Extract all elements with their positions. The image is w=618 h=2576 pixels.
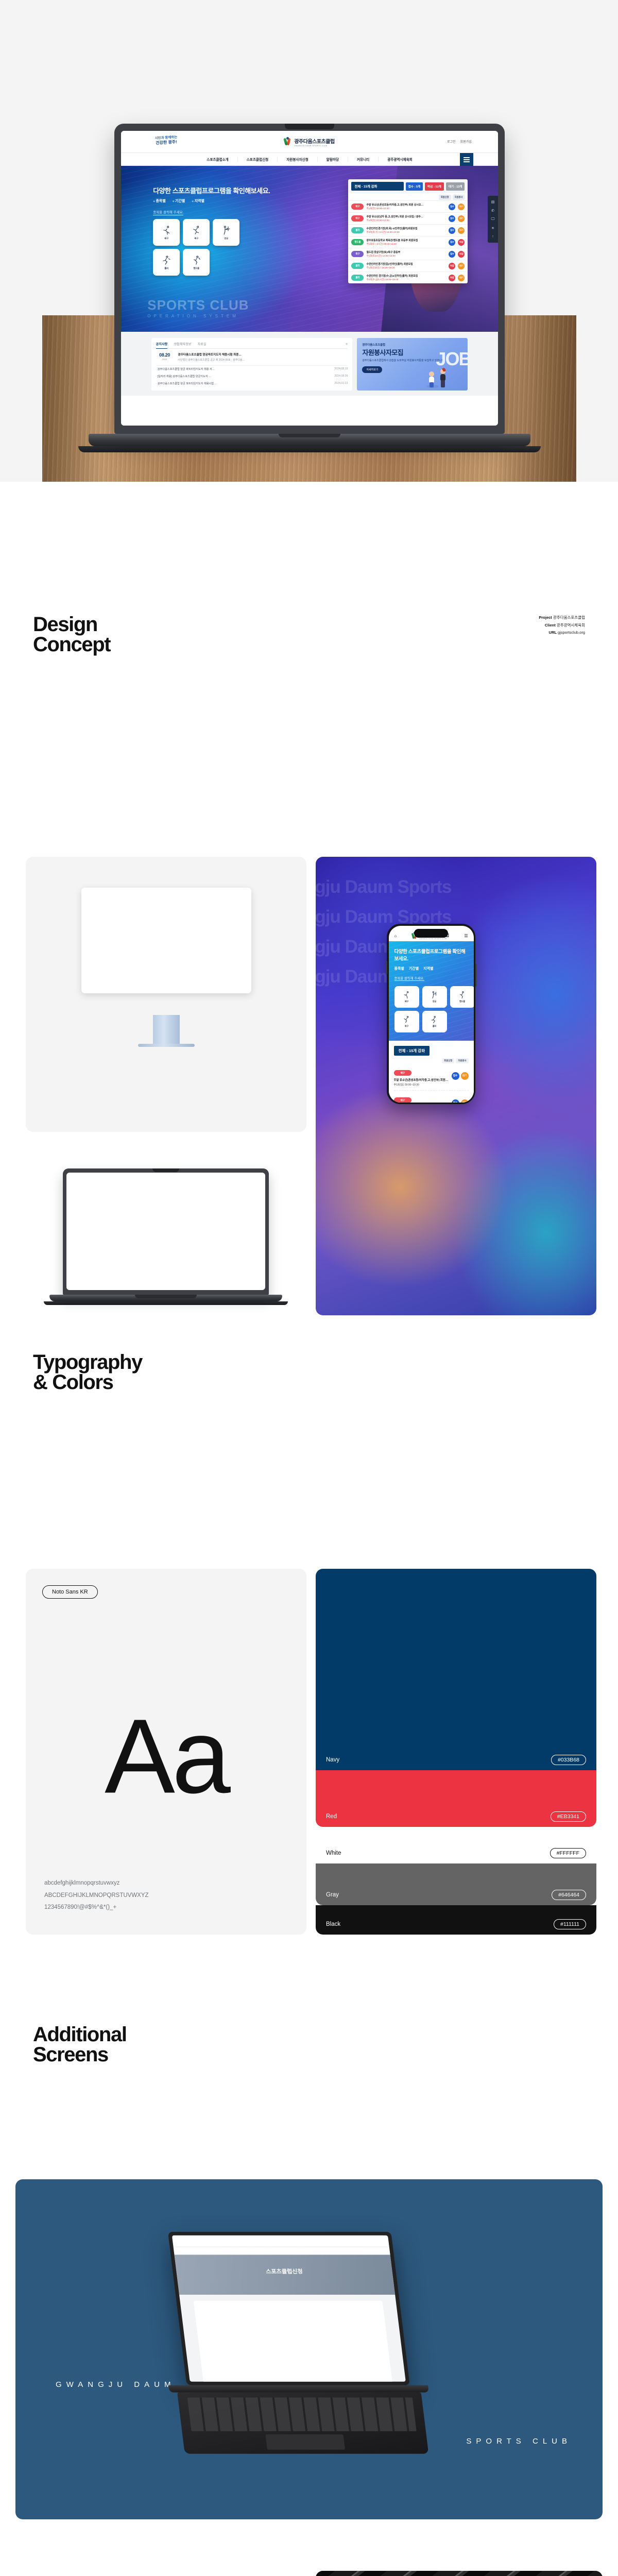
nav-item-volunteer[interactable]: 자원봉사자신청 — [278, 157, 317, 162]
course-status-2[interactable]: 대기 — [461, 1072, 469, 1080]
course-row[interactable]: 핸드볼 광주효동초등학교 체육관/핸드볼 초등부 회원모집주1회(토 / 2시간… — [348, 236, 468, 248]
tab-sports-info[interactable]: 생활체육정보 — [174, 342, 191, 346]
mobile-filter-period[interactable]: 기간별 — [409, 966, 419, 971]
course-time: 주1회(일) 09:00~10:30 — [366, 207, 446, 210]
course-title: 광주효동초등학교 체육관/핸드볼 초등부 회원모집 — [366, 239, 446, 242]
course-status-2[interactable]: 마감 — [458, 251, 465, 258]
course-tag: 배구 — [394, 1070, 411, 1076]
additional-screens-title: Additional Screens — [33, 2025, 127, 2065]
color-hex: #EB3341 — [551, 1811, 586, 1822]
course-status-2[interactable]: 대기 — [458, 275, 465, 281]
color-hex: #646464 — [552, 1890, 586, 1900]
promo-detail-button[interactable]: 자세히보기 — [362, 366, 382, 373]
course-tag: 롤러 — [351, 275, 364, 281]
filter-tab-region[interactable]: 지역별 — [192, 198, 204, 204]
mobile-course-list: 전체 - 15개 강좌 회원신청 자원봉사 배구 주말 유소년(혼성초등/여자중… — [389, 1041, 474, 1103]
mobile-course-row[interactable]: 배구 주말 유소년(혼성초등/여자중,고,성인부) 회원 상시모…주1회(일) … — [394, 1063, 469, 1091]
auth-links: 로그인 회원가입 — [447, 139, 472, 144]
course-time: 주1회(일) 09:00~10:30 — [394, 1083, 449, 1087]
people-illustration-icon — [419, 365, 453, 388]
site-logo[interactable]: 광주다움스포츠클럽GWANGJU DAUM SPORTS CLUB — [284, 137, 334, 147]
power-button[interactable] — [475, 964, 476, 987]
mobile-course-row[interactable]: 배구 주말 유소년(남자 중,고,성인부) 회원 상시모집 / 광주…주1회(일… — [394, 1091, 469, 1103]
course-panel-header: 전체 - 15개 강좌 접수 : 5개 마감 : 12개 대기 : 13개 — [348, 179, 468, 193]
course-tag: 배구 — [351, 204, 364, 210]
sport-card-archery[interactable]: 양궁 — [213, 219, 239, 246]
nav-item-community[interactable]: 커뮤니티 — [348, 157, 379, 162]
color-hex: #111111 — [554, 1919, 586, 1929]
notice-item-list: 광주다움스포츠클럽 양궁 파트타임지도자 채용 서…2024.08.19[일자리… — [156, 366, 348, 387]
course-title: 수완인라인 경기장(수,금)&인라인(롤러) 회원모집 — [366, 274, 446, 278]
handball-icon — [458, 991, 467, 999]
color-swatch-black: Black #111111 — [316, 1905, 596, 1935]
notice-featured-title: 광주다움스포츠클럽 양궁파트지도자 채용시험 최종… — [178, 352, 245, 357]
course-status-2[interactable]: 대기 — [458, 263, 465, 269]
site-lower-area: 공지사항 생활체육정보 자료실 + 08.20 2024 — [121, 332, 498, 396]
hero-filter-tabs: 종목별 기간별 지역별 — [153, 198, 204, 204]
course-time: 주1회(토 / 2시간) 09:30~11:30 — [366, 243, 446, 246]
word-gwangju-daum: GWANGJU DAUM — [56, 2380, 175, 2389]
meta-value-url[interactable]: gjsportsclub.org — [558, 630, 585, 635]
nav-item-council[interactable]: 광주광역시체육회 — [379, 157, 421, 162]
color-name: White — [326, 1850, 341, 1856]
notice-item[interactable]: 광주다움스포츠클럽 양궁 파트타임지도자 채용시험…2024.02.23 — [156, 380, 348, 387]
imac-mockup — [81, 888, 251, 993]
mobile-filter-sport[interactable]: 종목별 — [394, 966, 404, 971]
font-sample-glyph: Aa — [105, 1696, 228, 1817]
color-swatch-red: Red #EB3341 — [316, 1770, 596, 1827]
course-status-2[interactable]: 마감 — [458, 239, 465, 246]
mobile-sport-grid: 배구 양궁 핸드볼 축구 롤러 — [394, 986, 468, 1032]
course-row[interactable]: 롤러 수완인라인경기장(일)/인라인(롤러) 회원모집주1회(일요일) / 16… — [348, 260, 468, 272]
roller-icon — [430, 1015, 439, 1024]
notice-item[interactable]: 광주다움스포츠클럽 양궁 파트타임지도자 채용 서…2024.08.19 — [156, 366, 348, 373]
soccer-icon — [191, 225, 202, 236]
nav-item-apply[interactable]: 스포츠클럽신청 — [238, 157, 278, 162]
course-status-1[interactable]: 마감 — [449, 275, 455, 281]
imac-screen — [81, 888, 251, 993]
course-status-1[interactable]: 접수 — [452, 1099, 459, 1103]
notice-tabs: 공지사항 생활체육정보 자료실 + — [156, 342, 348, 349]
plus-icon[interactable]: + — [346, 342, 348, 346]
macbook-small-mockup — [63, 1168, 269, 1305]
quick-sidebar: ▤ ✆ 🖵 ☀ ↑ — [488, 196, 498, 243]
archery-icon — [430, 991, 439, 999]
font-name-badge: Noto Sans KR — [42, 1585, 98, 1599]
iphone-notch — [414, 929, 448, 938]
course-time: 주1회(일) 10:30~12:00 — [366, 219, 446, 222]
macbook-small-lid — [63, 1168, 269, 1295]
laptop-screen: 시민과 함께하는 건강한 광주! 광주다움스포츠클럽GWANGJU DAUM S… — [121, 131, 498, 426]
laptop-base — [49, 1295, 282, 1301]
course-rows: 배구 주말 유소년(혼성초등/여자중,고,성인부) 회원 상시모…주1회(일) … — [348, 200, 468, 283]
meta-label-url: URL — [549, 630, 557, 635]
hero-mockup-section: 시민과 함께하는 건강한 광주! 광주다움스포츠클럽GWANGJU DAUM S… — [0, 0, 618, 482]
color-palette: Navy #033B68Red #EB3341White #FFFFFFGray… — [316, 1569, 596, 1935]
sport-label: 축구 — [194, 237, 198, 240]
sport-label: 배구 — [405, 1000, 408, 1003]
mobile-course-info: 배구 주말 유소년(혼성초등/여자중,고,성인부) 회원 상시모…주1회(일) … — [394, 1067, 449, 1087]
sports-club-watermark: SPORTS CLUBOPERATION SYSTEM — [147, 297, 249, 318]
angled-laptop-lid: 스포츠클럽신청 — [168, 2232, 410, 2385]
course-title: 주말 유소년(남자 중,고,성인부) 회원 상시모집 / 광주… — [366, 215, 446, 218]
color-swatch-navy: Navy #033B68 — [316, 1569, 596, 1770]
course-tag: 배구 — [394, 1097, 411, 1103]
mobile-brand-sub: GWANGJU DAUM SPORTS CLUB — [419, 938, 449, 940]
notice-day: 08.20 — [156, 352, 174, 358]
color-name: Red — [326, 1814, 337, 1820]
notice-year: 2024 — [156, 358, 174, 361]
sport-label: 핸드볼 — [459, 1000, 465, 1003]
course-time: 주1회(토/2시간) 12:00~14:00 — [366, 255, 446, 258]
laptop-foot — [78, 446, 541, 452]
course-time: 주2회(화,목 / 2시간) 18:00~20:00 — [366, 231, 446, 234]
project-meta: Project 광주다움스포츠클럽 Client 광주광역시체육회 URL gj… — [539, 614, 585, 637]
mobile-app-icon[interactable]: ▤ — [488, 197, 498, 206]
signup-link[interactable]: 회원가입 — [460, 139, 472, 144]
chip-waiting[interactable]: 대기 : 13개 — [446, 182, 465, 191]
mobile-sport-volleyball[interactable]: 배구 — [394, 986, 419, 1008]
laptop-notch — [285, 124, 334, 129]
course-list-panel: 전체 - 15개 강좌 접수 : 5개 마감 : 12개 대기 : 13개 회원… — [348, 179, 468, 283]
phone-gradient-card: ngju Daum Sports ngju Daum Sports ngju D… — [316, 857, 596, 1315]
notice-featured[interactable]: 08.20 2024 광주다움스포츠클럽 양궁파트지도자 채용시험 최종… 사단… — [156, 349, 348, 366]
course-title: 주말 유소년(혼성초등/여자중,고,성인부) 회원 상시모… — [394, 1078, 449, 1082]
notice-item-title: 광주다움스포츠클럽 양궁 파트타임지도자 채용시험… — [156, 382, 217, 385]
sport-label: 양궁 — [433, 1000, 436, 1003]
site-header: 시민과 함께하는 건강한 광주! 광주다움스포츠클럽GWANGJU DAUM S… — [121, 131, 498, 152]
course-info: 광주효동초등학교 체육관/핸드볼 초등부 회원모집주1회(토 / 2시간) 09… — [366, 239, 446, 246]
angled-laptop-keyboard — [177, 2393, 428, 2454]
nav-item-intro[interactable]: 스포츠클럽소개 — [198, 157, 237, 162]
volunteer-promo-banner[interactable]: JOB 광주다움스포츠클럽 자원봉사자모집 광주다움스포츠클럽에서 강습을 도와… — [357, 338, 468, 391]
laptop-mockup: 시민과 함께하는 건강한 광주! 광주다움스포츠클럽GWANGJU DAUM S… — [114, 124, 505, 452]
roller-icon — [161, 255, 172, 266]
idea-bulb-icon[interactable]: ☀ — [488, 224, 498, 232]
mobile-course-status: 접수 대기 — [452, 1094, 469, 1103]
course-count-label: 전체 - 15개 강좌 — [351, 182, 403, 191]
course-status-2[interactable]: 대기 — [458, 215, 465, 222]
mobile-course-count: 전체 - 15개 강좌 — [394, 1046, 430, 1056]
volunteer-button[interactable]: 자원봉사 — [453, 195, 465, 200]
blue-laptop-card: GWANGJU DAUM SPORTS CLUB 스포츠클럽신청 — [15, 2179, 603, 2519]
color-swatch-gray: Gray #646464 — [316, 1863, 596, 1906]
angled-laptop-screen: 스포츠클럽신청 — [172, 2235, 406, 2382]
course-row[interactable]: 배구 주말 유소년(혼성초등/여자중,고,성인부) 회원 상시모…주1회(일) … — [348, 200, 468, 212]
course-status-2[interactable]: 대기 — [458, 204, 465, 210]
mobile-sport-handball[interactable]: 핸드볼 — [450, 986, 474, 1008]
angled-laptop-mockup: 스포츠클럽신청 — [168, 2232, 522, 2498]
mobile-sport-roller[interactable]: 롤러 — [422, 1011, 447, 1032]
mobile-hero: 다양한 스포츠클럽프로그램을 확인해보세요. 종목별 기간별 지역별 종목을 클… — [389, 941, 474, 1041]
scroll-top-icon[interactable]: ↑ — [488, 232, 498, 241]
angled-laptop-base — [168, 2385, 428, 2393]
pc-screen-icon[interactable]: 🖵 — [488, 215, 498, 224]
angled-page-title: 스포츠클럽신청 — [265, 2267, 303, 2275]
course-info: 수완인라인경기장(일)/인라인(롤러) 회원모집주1회(일요일) / 16:30… — [366, 262, 446, 269]
course-row[interactable]: 배구 주말 유소년(남자 중,고,성인부) 회원 상시모집 / 광주…주1회(일… — [348, 212, 468, 224]
course-status-1[interactable]: 접수 — [449, 215, 455, 222]
course-status-1[interactable]: 접수 — [449, 204, 455, 210]
color-swatch-white: White #FFFFFF — [316, 1827, 596, 1863]
laptop-notch — [152, 1168, 179, 1172]
home-icon[interactable]: ⌂ — [394, 934, 397, 938]
mobile-filter-region[interactable]: 지역별 — [423, 966, 433, 971]
course-row[interactable]: 축구 월드컵 풋살구장(토)/축구 중등부주1회(토/2시간) 12:00~14… — [348, 248, 468, 260]
tab-archive[interactable]: 자료실 — [197, 342, 206, 346]
course-row[interactable]: 롤러 수완인라인 경기장(수,금)&인라인(롤러) 회원모집주2회(수,금/1시… — [348, 272, 468, 283]
filter-tab-sport[interactable]: 종목별 — [153, 198, 166, 204]
notice-board: 공지사항 생활체육정보 자료실 + 08.20 2024 — [151, 338, 353, 391]
sport-card-soccer[interactable]: 축구 — [183, 219, 210, 246]
notice-item-date: 2024.08.09 — [334, 375, 348, 378]
sport-label: 롤러 — [164, 267, 168, 270]
tab-notice[interactable]: 공지사항 — [156, 342, 168, 349]
login-link[interactable]: 로그인 — [447, 139, 456, 144]
course-info: 주말 유소년(남자 중,고,성인부) 회원 상시모집 / 광주…주1회(일) 1… — [366, 215, 446, 222]
mobile-course-status: 접수 대기 — [452, 1067, 469, 1080]
notice-item-date: 2024.08.19 — [334, 367, 348, 371]
website-preview: 시민과 함께하는 건강한 광주! 광주다움스포츠클럽GWANGJU DAUM S… — [121, 131, 498, 426]
specimen-numerals: 1234567890!@#$%^&*()_+ — [44, 1902, 149, 1914]
hero-banner: 다양한 스포츠클럽프로그램을 확인해보세요. 종목별 기간별 지역별 종목을 클… — [121, 166, 498, 332]
city-slogan: 시민과 함께하는 건강한 광주! — [154, 135, 178, 146]
phone-icon[interactable]: ✆ — [488, 206, 498, 215]
course-panel-subbuttons: 회원신청 자원봉사 — [348, 193, 468, 200]
trackpad[interactable] — [265, 2434, 345, 2450]
specimen-lowercase: abcdefghijklmnopqrstuvwxyz — [44, 1877, 149, 1890]
imac-neck — [153, 1015, 180, 1045]
soccer-icon — [402, 1015, 411, 1024]
course-tag: 롤러 — [351, 227, 364, 233]
color-name: Navy — [326, 1757, 339, 1763]
volume-button[interactable] — [386, 961, 387, 974]
archery-icon — [221, 225, 232, 236]
imac-mockup-card — [26, 857, 306, 1132]
sport-card-handball[interactable]: 핸드볼 — [183, 249, 210, 276]
imac-chin — [85, 972, 248, 993]
mobile-sport-archery[interactable]: 양궁 — [422, 986, 447, 1008]
iphone-screen: ⌂ 광주다움스포츠클럽GWANGJU DAUM SPORTS CLUB ☰ 다양… — [389, 926, 474, 1103]
hamburger-icon[interactable] — [460, 153, 473, 166]
course-tag: 핸드볼 — [351, 239, 364, 245]
sport-label: 축구 — [405, 1025, 408, 1028]
brand-sub: GWANGJU DAUM SPORTS CLUB — [294, 145, 334, 147]
notice-item-title: [일자리 채용] 광주다움스포츠클럽 양궁지도자 … — [156, 375, 212, 378]
color-hex: #FFFFFF — [550, 1848, 586, 1858]
macbook-small-card — [26, 1148, 306, 1315]
volunteer-button[interactable]: 자원봉사 — [456, 1058, 468, 1063]
course-status-2[interactable]: 대기 — [458, 227, 465, 234]
logo-mark-icon — [284, 138, 291, 146]
notice-date: 08.20 2024 — [156, 352, 174, 362]
typography-card: Noto Sans KR Aa abcdefghijklmnopqrstuvwx… — [26, 1569, 306, 1935]
laptop-lid: 시민과 함께하는 건강한 광주! 광주다움스포츠클럽GWANGJU DAUM S… — [114, 124, 505, 434]
mobile-filter-tabs: 종목별 기간별 지역별 — [394, 966, 468, 971]
sport-label: 배구 — [164, 237, 168, 240]
course-tag: 축구 — [351, 251, 364, 257]
course-status-1[interactable]: 접수 — [449, 251, 455, 258]
course-row[interactable]: 롤러 수완인라인경기장(화,목)-3/인라인(롤러)회원모집주2회(화,목 / … — [348, 224, 468, 236]
course-info: 월드컵 풋살구장(토)/축구 중등부주1회(토/2시간) 12:00~14:00 — [366, 250, 446, 258]
course-status-1[interactable]: 접수 — [452, 1072, 459, 1080]
volleyball-icon — [161, 225, 172, 236]
site-nav: 스포츠클럽소개 스포츠클럽신청 자원봉사자신청 알림마당 커뮤니티 광주광역시체… — [121, 152, 498, 166]
sport-card-volleyball[interactable]: 배구 — [153, 219, 180, 246]
laptop-base — [89, 434, 530, 446]
typography-title: Typography & Colors — [33, 1352, 142, 1393]
course-info: 수완인라인경기장(화,목)-3/인라인(롤러)회원모집주2회(화,목 / 2시간… — [366, 227, 446, 234]
mobile-course-buttons: 회원신청 자원봉사 — [394, 1058, 469, 1063]
hero-heading: 다양한 스포츠클럽프로그램을 확인해보세요. — [153, 185, 270, 195]
meta-label-project: Project — [539, 615, 552, 620]
course-title: 수완인라인경기장(화,목)-3/인라인(롤러)회원모집 — [366, 227, 446, 230]
mobile-sport-soccer[interactable]: 축구 — [394, 1011, 419, 1032]
hero-instruction: 종목을 클릭해 주세요. — [153, 209, 183, 215]
course-status-1[interactable]: 접수 — [449, 239, 455, 246]
member-apply-button[interactable]: 회원신청 — [442, 1058, 454, 1063]
mobile-course-rows: 배구 주말 유소년(혼성초등/여자중,고,성인부) 회원 상시모…주1회(일) … — [394, 1063, 469, 1103]
meta-value-client: 광주광역시체육회 — [557, 623, 585, 628]
specimen-uppercase: ABCDEFGHIJKLMNOPQRSTUVWXYZ — [44, 1890, 149, 1902]
meta-label-client: Client — [545, 623, 556, 628]
sports-club-watermark-sub: OPERATION SYSTEM — [147, 314, 249, 318]
course-tag: 롤러 — [351, 263, 364, 269]
sport-grid: 배구 축구 양궁 롤러 — [153, 219, 239, 276]
iphone-mockup: ⌂ 광주다움스포츠클럽GWANGJU DAUM SPORTS CLUB ☰ 다양… — [387, 924, 475, 1104]
sport-label: 핸드볼 — [193, 267, 199, 270]
imac-foot — [138, 1044, 195, 1047]
course-title: 수완인라인경기장(일)/인라인(롤러) 회원모집 — [366, 262, 446, 266]
mobile-hero-heading: 다양한 스포츠클럽프로그램을 확인해보세요. — [394, 947, 468, 962]
nav-item-notice[interactable]: 알림마당 — [318, 157, 348, 162]
member-apply-button[interactable]: 회원신청 — [439, 195, 451, 200]
brand-name: 광주다움스포츠클럽GWANGJU DAUM SPORTS CLUB — [294, 137, 334, 147]
design-concept-title: Design Concept — [33, 615, 110, 655]
macbook-small-screen — [66, 1173, 265, 1290]
handball-icon — [191, 255, 202, 266]
course-tag: 배구 — [351, 215, 364, 222]
sport-card-roller[interactable]: 롤러 — [153, 249, 180, 276]
gradient-watermark-1: ngju Daum Sports — [316, 874, 596, 900]
mobile-course-info: 배구 주말 유소년(남자 중,고,성인부) 회원 상시모집 / 광주…주1회(일… — [394, 1094, 449, 1103]
hamburger-icon[interactable]: ☰ — [464, 934, 468, 938]
filter-tab-period[interactable]: 기간별 — [173, 198, 185, 204]
course-title: 주말 유소년(혼성초등/여자중,고,성인부) 회원 상시모… — [366, 203, 446, 207]
notice-item[interactable]: [일자리 채용] 광주다움스포츠클럽 양궁지도자 …2024.08.09 — [156, 373, 348, 380]
dark-phone-card: 자원봉사자신청 종목별 기간별 지역별 배구 축구 양궁 롤러 핸드볼 선택해 … — [316, 2571, 603, 2576]
meta-value-project: 광주다움스포츠클럽 — [553, 615, 585, 620]
slogan-line-2: 건강한 광주! — [156, 140, 177, 145]
chip-closed[interactable]: 마감 : 12개 — [425, 182, 444, 191]
color-name: Black — [326, 1921, 340, 1927]
course-time: 주1회(일요일) / 16:30~18:20 — [366, 266, 446, 269]
sport-label: 롤러 — [433, 1025, 436, 1028]
notice-item-title: 광주다움스포츠클럽 양궁 파트타임지도자 채용 서… — [156, 367, 215, 371]
mobile-instruction: 종목을 클릭해 주세요. — [394, 976, 424, 981]
sport-label: 양궁 — [224, 237, 228, 240]
course-status-2[interactable]: 대기 — [461, 1099, 469, 1103]
course-status-1[interactable]: 마감 — [449, 263, 455, 269]
volleyball-icon — [402, 991, 411, 999]
notice-featured-text: 광주다움스포츠클럽 양궁파트지도자 채용시험 최종… 사단법인 광주다움스포츠클… — [178, 352, 245, 362]
color-name: Gray — [326, 1892, 339, 1898]
promo-eyebrow: 광주다움스포츠클럽 — [362, 343, 462, 347]
notice-item-date: 2024.02.23 — [334, 382, 348, 385]
course-title: 월드컵 풋살구장(토)/축구 중등부 — [366, 250, 446, 254]
course-info: 주말 유소년(혼성초등/여자중,고,성인부) 회원 상시모…주1회(일) 09:… — [366, 203, 446, 210]
notice-featured-desc: 사단법인 광주다움스포츠클럽 공고 제 2024-05호 - 광주다움… — [178, 358, 245, 362]
course-info: 수완인라인 경기장(수,금)&인라인(롤러) 회원모집주2회(수,금/1시간) … — [366, 274, 446, 281]
laptop-foot — [44, 1301, 288, 1305]
color-hex: #033B68 — [551, 1755, 586, 1765]
course-status-1[interactable]: 접수 — [449, 227, 455, 234]
chip-open[interactable]: 접수 : 5개 — [406, 182, 423, 191]
font-specimen: abcdefghijklmnopqrstuvwxyz ABCDEFGHIJKLM… — [44, 1877, 149, 1914]
course-time: 주2회(수,금/1시간) 18:00~19:00 — [366, 278, 446, 281]
